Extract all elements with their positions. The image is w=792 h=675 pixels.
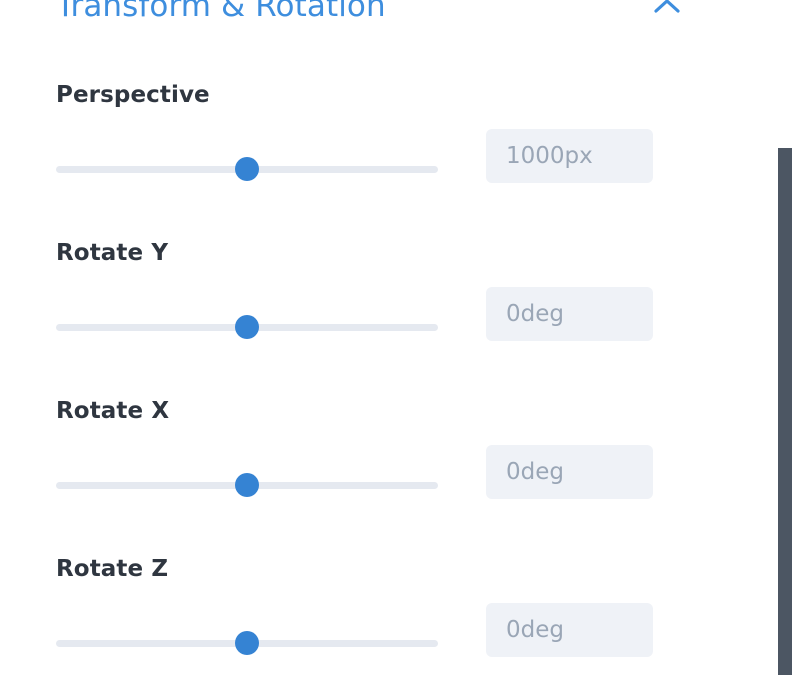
slider-thumb[interactable] (235, 157, 259, 181)
control-body (56, 449, 704, 527)
panel-viewport: Transform & Rotation Perspective (0, 0, 792, 675)
control-body (56, 607, 704, 675)
slider-thumb[interactable] (235, 631, 259, 655)
control-row-rotate-y: Rotate Y (0, 226, 760, 384)
control-row-rotate-z: Rotate Z (0, 542, 760, 675)
slider-thumb[interactable] (235, 473, 259, 497)
control-body (56, 291, 704, 369)
control-label: Rotate Z (56, 542, 704, 581)
rotate-z-value-input[interactable] (486, 603, 653, 657)
control-row-perspective: Perspective (0, 68, 760, 226)
collapse-section-button[interactable] (650, 0, 684, 23)
rotate-y-slider[interactable] (56, 315, 438, 339)
rotate-y-value-input[interactable] (486, 287, 653, 341)
control-label: Perspective (56, 68, 704, 107)
rotate-x-slider[interactable] (56, 473, 438, 497)
perspective-slider[interactable] (56, 157, 438, 181)
slider-thumb[interactable] (235, 315, 259, 339)
rotate-x-value-input[interactable] (486, 445, 653, 499)
adjacent-surface-edge (778, 148, 792, 675)
page-title: Transform & Rotation (56, 0, 386, 23)
controls-list: Perspective Rotate Y (0, 34, 760, 675)
section-header: Transform & Rotation (0, 0, 760, 34)
control-label: Rotate X (56, 384, 704, 423)
transform-rotation-panel: Transform & Rotation Perspective (0, 0, 760, 675)
control-row-rotate-x: Rotate X (0, 384, 760, 542)
control-label: Rotate Y (56, 226, 704, 265)
perspective-value-input[interactable] (486, 129, 653, 183)
control-body (56, 133, 704, 211)
chevron-up-icon (654, 0, 680, 14)
rotate-z-slider[interactable] (56, 631, 438, 655)
